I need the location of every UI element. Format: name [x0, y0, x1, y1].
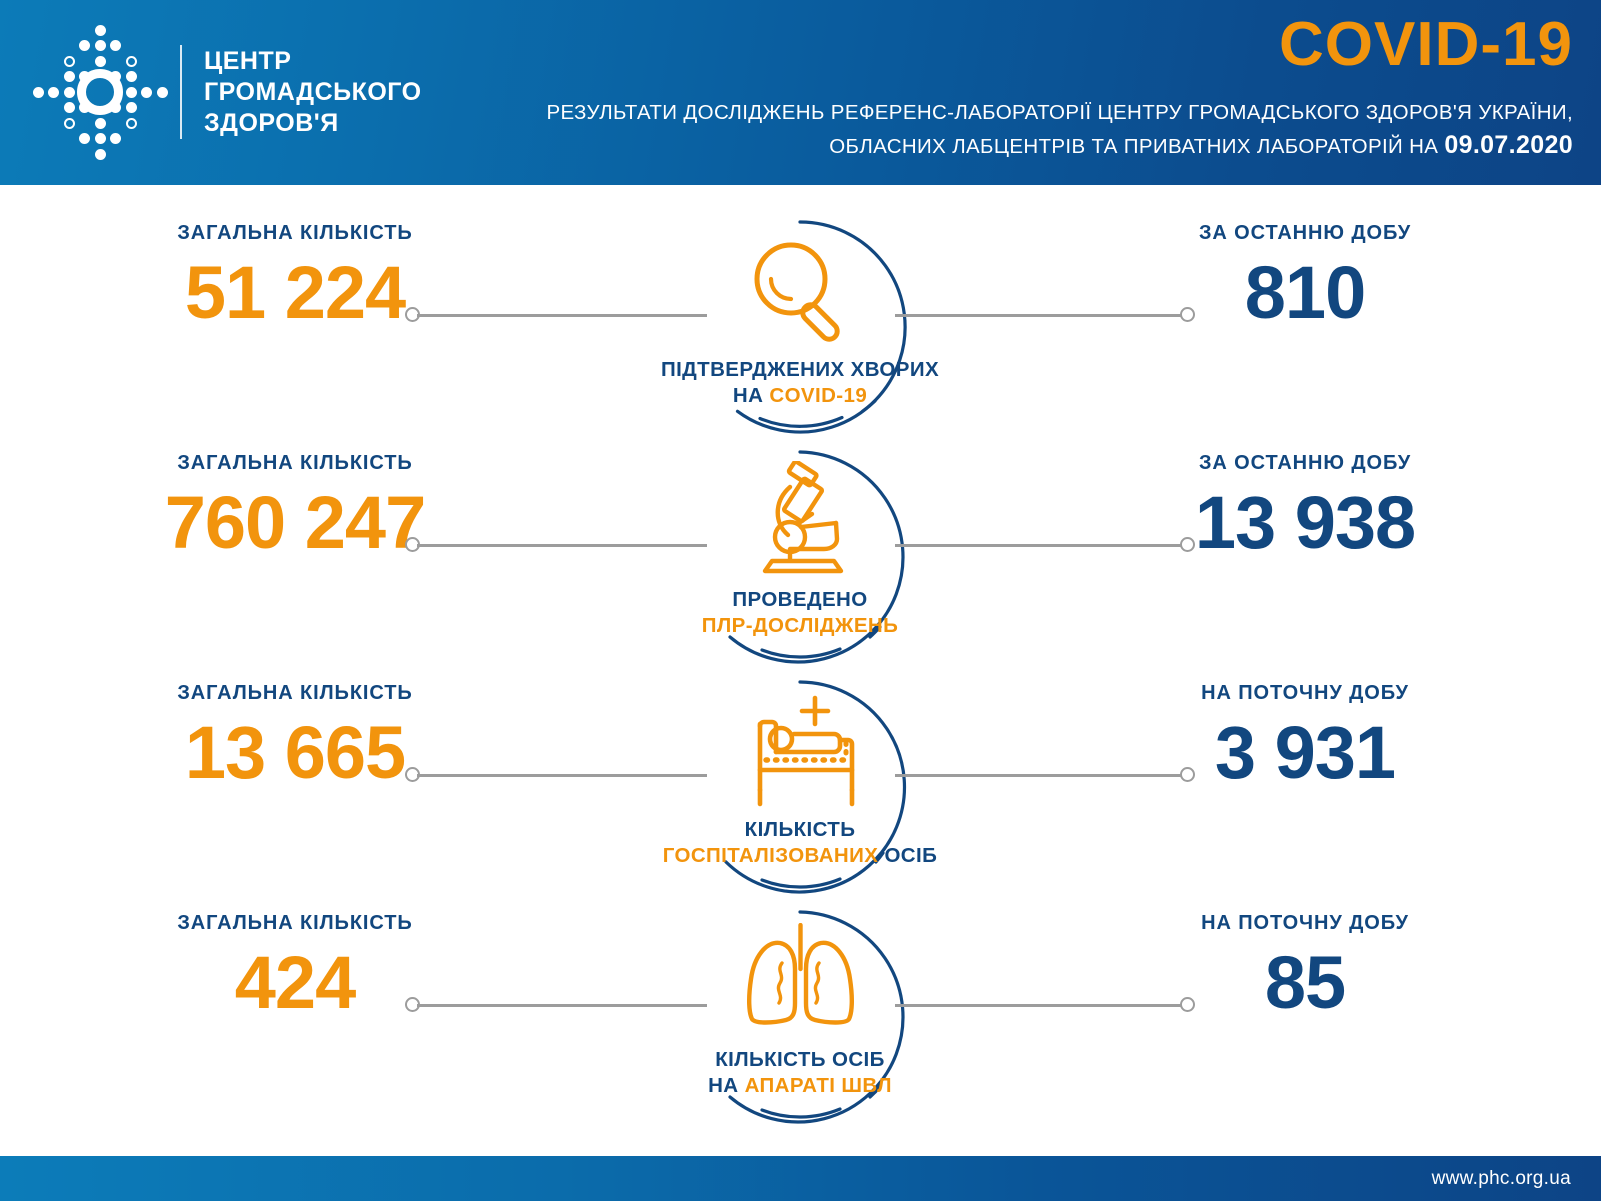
org-name-line1: ЦЕНТР — [204, 46, 422, 77]
connector-left-hospitalized — [405, 767, 705, 783]
organization-name: ЦЕНТР ГРОМАДСЬКОГО ЗДОРОВ'Я — [204, 46, 422, 139]
daily-confirmed-cases-block: ЗА ОСТАННЮ ДОБУ 810 — [1105, 221, 1505, 335]
logo-dot — [64, 56, 75, 67]
connector-left-ventilators — [405, 997, 705, 1013]
current-ventilators-block: НА ПОТОЧНУ ДОБУ 85 — [1105, 911, 1505, 1025]
badge-ventilators: КІЛЬКІСТЬ ОСІБ НА АПАРАТІ ШВЛ — [690, 907, 910, 1127]
subtitle-line-1: РЕЗУЛЬТАТИ ДОСЛІДЖЕНЬ РЕФЕРЕНС-ЛАБОРАТОР… — [453, 96, 1573, 129]
lungs-icon — [690, 923, 910, 1043]
logo-dot — [64, 87, 75, 98]
current-hospitalized-value: 3 931 — [1105, 711, 1505, 795]
subtitle-line-2-text: ОБЛАСНИХ ЛАБЦЕНТРІВ ТА ПРИВАТНИХ ЛАБОРАТ… — [829, 135, 1444, 158]
logo-dot — [64, 71, 75, 82]
microscope-icon — [690, 463, 910, 583]
connector-line — [417, 314, 707, 317]
logo-dot — [33, 87, 44, 98]
stat-row-hospitalized: ЗАГАЛЬНА КІЛЬКІСТЬ 13 665 — [0, 667, 1601, 897]
logo-dot — [95, 133, 106, 144]
phc-logo-icon — [30, 22, 170, 162]
logo-dot — [79, 102, 90, 113]
logo-dot — [126, 87, 137, 98]
current-hospitalized-block: НА ПОТОЧНУ ДОБУ 3 931 — [1105, 681, 1505, 795]
badge-pcr-tests: ПРОВЕДЕНО ПЛР-ДОСЛІДЖЕНЬ — [690, 447, 910, 667]
badge-label-line1: ПРОВЕДЕНО — [630, 587, 970, 613]
badge-label-line2: НА COVID-19 — [630, 383, 970, 409]
connector-line — [417, 544, 707, 547]
logo-dot — [110, 102, 121, 113]
badge-label-highlight: АПАРАТІ ШВЛ — [745, 1074, 892, 1097]
badge-confirmed-cases: ПІДТВЕРДЖЕНИХ ХВОРИХ НА COVID-19 — [690, 217, 910, 437]
stat-row-confirmed-cases: ЗАГАЛЬНА КІЛЬКІСТЬ 51 224 ПІДТВЕРДЖЕНИХ — [0, 207, 1601, 437]
logo-dot — [157, 87, 168, 98]
logo-dot — [64, 102, 75, 113]
badge-label-pcr: ПРОВЕДЕНО ПЛР-ДОСЛІДЖЕНЬ — [630, 587, 970, 639]
connector-line — [417, 1004, 707, 1007]
logo-dot — [126, 118, 137, 129]
logo-dot — [141, 87, 152, 98]
badge-label-highlight: ПЛР-ДОСЛІДЖЕНЬ — [702, 614, 899, 637]
badge-label-hospitalized: КІЛЬКІСТЬ ГОСПІТАЛІЗОВАНИХ ОСІБ — [630, 817, 970, 869]
connector-line — [417, 774, 707, 777]
covid-title: COVID-19 — [1279, 14, 1573, 76]
badge-label-plain: НА — [733, 384, 770, 407]
logo-dot — [48, 87, 59, 98]
stat-row-ventilators: ЗАГАЛЬНА КІЛЬКІСТЬ 424 — [0, 897, 1601, 1127]
badge-label-confirmed: ПІДТВЕРДЖЕНИХ ХВОРИХ НА COVID-19 — [630, 357, 970, 409]
connector-left-pcr — [405, 537, 705, 553]
badge-label-line2: ПЛР-ДОСЛІДЖЕНЬ — [630, 613, 970, 639]
logo-dot — [79, 133, 90, 144]
badge-label-highlight: ГОСПІТАЛІЗОВАНИХ — [663, 844, 879, 867]
daily-confirmed-cases-value: 810 — [1105, 251, 1505, 335]
daily-pcr-tests-caption: ЗА ОСТАННЮ ДОБУ — [1105, 451, 1505, 475]
logo-dot — [79, 40, 90, 51]
logo-dot — [95, 149, 106, 160]
badge-label-ventilators: КІЛЬКІСТЬ ОСІБ НА АПАРАТІ ШВЛ — [630, 1047, 970, 1099]
header-subtitle: РЕЗУЛЬТАТИ ДОСЛІДЖЕНЬ РЕФЕРЕНС-ЛАБОРАТОР… — [453, 96, 1573, 163]
logo-dot — [95, 40, 106, 51]
badge-label-highlight: COVID-19 — [769, 384, 867, 407]
current-hospitalized-caption: НА ПОТОЧНУ ДОБУ — [1105, 681, 1505, 705]
magnifier-icon — [690, 233, 910, 353]
current-ventilators-caption: НА ПОТОЧНУ ДОБУ — [1105, 911, 1505, 935]
daily-confirmed-cases-caption: ЗА ОСТАННЮ ДОБУ — [1105, 221, 1505, 245]
logo-dot — [79, 71, 90, 82]
badge-label-line2: НА АПАРАТІ ШВЛ — [630, 1073, 970, 1099]
report-date: 09.07.2020 — [1444, 131, 1573, 159]
organization-logo: ЦЕНТР ГРОМАДСЬКОГО ЗДОРОВ'Я — [30, 22, 422, 162]
badge-label-line1: КІЛЬКІСТЬ ОСІБ — [630, 1047, 970, 1073]
subtitle-line-2: ОБЛАСНИХ ЛАБЦЕНТРІВ ТА ПРИВАТНИХ ЛАБОРАТ… — [453, 129, 1573, 163]
logo-dot — [95, 25, 106, 36]
org-name-line3: ЗДОРОВ'Я — [204, 108, 422, 139]
badge-label-suffix: ОСІБ — [878, 844, 937, 867]
daily-pcr-tests-value: 13 938 — [1105, 481, 1505, 565]
badge-hospitalized: КІЛЬКІСТЬ ГОСПІТАЛІЗОВАНИХ ОСІБ — [690, 677, 910, 897]
badge-label-line2: ГОСПІТАЛІЗОВАНИХ ОСІБ — [630, 843, 970, 869]
total-pcr-tests-caption: ЗАГАЛЬНА КІЛЬКІСТЬ — [95, 451, 495, 475]
website-url: www.phc.org.ua — [1432, 1168, 1571, 1190]
stat-row-pcr-tests: ЗАГАЛЬНА КІЛЬКІСТЬ 760 247 — [0, 437, 1601, 667]
total-ventilators-caption: ЗАГАЛЬНА КІЛЬКІСТЬ — [95, 911, 495, 935]
page-header: ЦЕНТР ГРОМАДСЬКОГО ЗДОРОВ'Я COVID-19 РЕЗ… — [0, 0, 1601, 185]
hospital-bed-icon — [690, 693, 910, 813]
badge-label-line1: КІЛЬКІСТЬ — [630, 817, 970, 843]
total-hospitalized-caption: ЗАГАЛЬНА КІЛЬКІСТЬ — [95, 681, 495, 705]
connector-left-confirmed — [405, 307, 705, 323]
logo-dot — [126, 71, 137, 82]
badge-label-plain: НА — [708, 1074, 745, 1097]
logo-dot — [64, 118, 75, 129]
logo-dot — [95, 118, 106, 129]
logo-dot — [110, 133, 121, 144]
org-name-line2: ГРОМАДСЬКОГО — [204, 77, 422, 108]
badge-label-line1: ПІДТВЕРДЖЕНИХ ХВОРИХ — [630, 357, 970, 383]
stats-rows: ЗАГАЛЬНА КІЛЬКІСТЬ 51 224 ПІДТВЕРДЖЕНИХ — [0, 185, 1601, 1140]
daily-pcr-tests-block: ЗА ОСТАННЮ ДОБУ 13 938 — [1105, 451, 1505, 565]
logo-dot — [126, 102, 137, 113]
logo-dot — [95, 56, 106, 67]
page-footer: www.phc.org.ua — [0, 1156, 1601, 1201]
logo-dot — [126, 56, 137, 67]
logo-dot — [110, 40, 121, 51]
logo-divider — [180, 45, 182, 139]
current-ventilators-value: 85 — [1105, 941, 1505, 1025]
logo-dot — [110, 71, 121, 82]
total-confirmed-cases-caption: ЗАГАЛЬНА КІЛЬКІСТЬ — [95, 221, 495, 245]
